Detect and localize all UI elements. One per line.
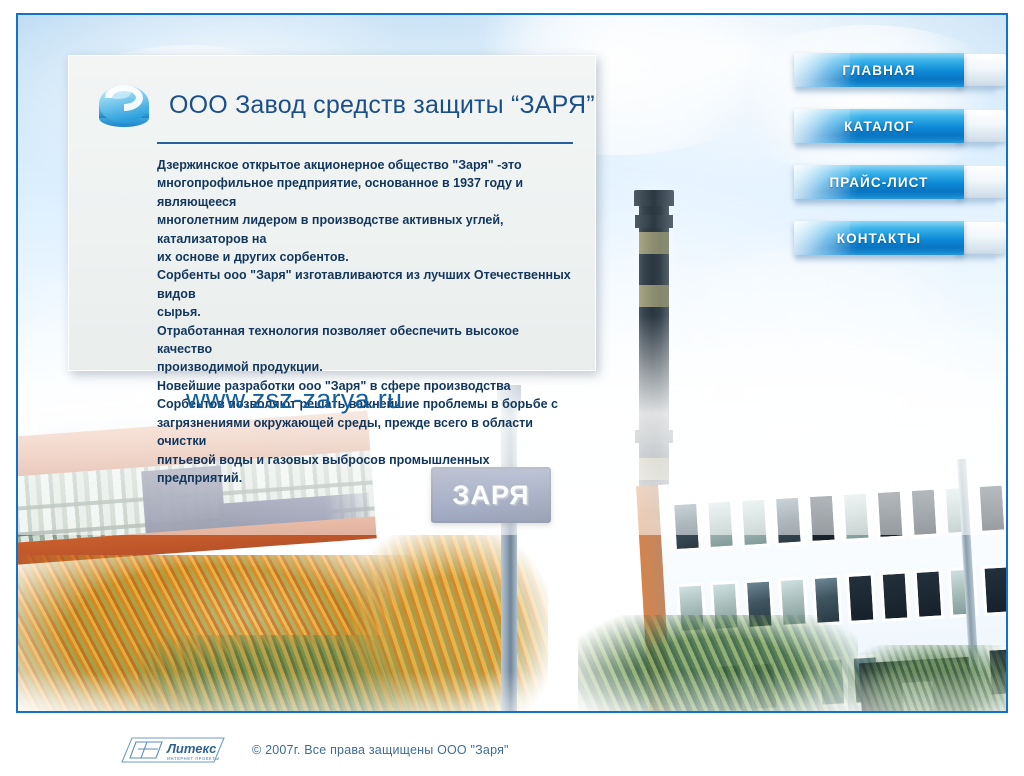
nav-item-katalog[interactable]: КАТАЛОГ [786, 109, 1006, 143]
ground-fade [18, 671, 1006, 711]
nav-label-glavnaya: ГЛАВНАЯ [794, 53, 964, 87]
building-window [846, 572, 877, 624]
about-panel-header: ООО Завод средств защиты “ЗАРЯ” [93, 74, 573, 136]
building-window [710, 580, 741, 632]
smokestack-band [639, 232, 669, 254]
nav-item-kontakty[interactable]: КОНТАКТЫ [786, 221, 1006, 255]
page-root: ЗАРЯ [0, 0, 1024, 776]
litex-developer-logo[interactable]: Литекс ИНТЕРНЕТ ПРОЕКТЫ [120, 735, 226, 765]
nav-item-glavnaya[interactable]: ГЛАВНАЯ [786, 53, 1006, 87]
building-window [778, 576, 809, 628]
page-title: ООО Завод средств защиты “ЗАРЯ” [169, 91, 595, 120]
building-window [913, 568, 944, 620]
title-divider [157, 142, 573, 144]
about-text: Дзержинское открытое акционерное обществ… [157, 156, 573, 487]
building-window [981, 564, 1008, 616]
smokestack-band [639, 285, 669, 307]
nav-button-shadow [796, 143, 996, 152]
nav-button-shadow [796, 87, 996, 96]
copyright-text: © 2007г. Все права защищены ООО "Заря" [252, 743, 509, 757]
smokestack-collar [635, 215, 673, 228]
building-window [880, 570, 911, 622]
page-footer: Литекс ИНТЕРНЕТ ПРОЕКТЫ © 2007г. Все пра… [0, 713, 1024, 776]
nav-button-shadow [796, 255, 996, 264]
smokestack-cap [634, 190, 674, 206]
site-url[interactable]: www.zsz-zarya.ru [186, 384, 402, 415]
zarya-logo-icon [93, 74, 155, 136]
about-panel: ООО Завод средств защиты “ЗАРЯ” Дзержинс… [68, 55, 596, 371]
nav-label-price-list: ПРАЙС-ЛИСТ [794, 165, 964, 199]
building-window [812, 574, 843, 626]
hero-photo-frame: ЗАРЯ [16, 13, 1008, 713]
litex-wordmark: Литекс [166, 741, 217, 756]
nav-button-shadow [796, 199, 996, 208]
nav-label-kontakty: КОНТАКТЫ [794, 221, 964, 255]
building-window [676, 582, 707, 634]
footer-content: Литекс ИНТЕРНЕТ ПРОЕКТЫ © 2007г. Все пра… [120, 735, 509, 765]
litex-tagline: ИНТЕРНЕТ ПРОЕКТЫ [167, 756, 220, 761]
building-window [744, 578, 775, 630]
nav-item-price-list[interactable]: ПРАЙС-ЛИСТ [786, 165, 1006, 199]
main-navigation: ГЛАВНАЯ КАТАЛОГ ПРАЙС-ЛИСТ КОНТАКТЫ [786, 53, 1006, 277]
nav-label-katalog: КАТАЛОГ [794, 109, 964, 143]
